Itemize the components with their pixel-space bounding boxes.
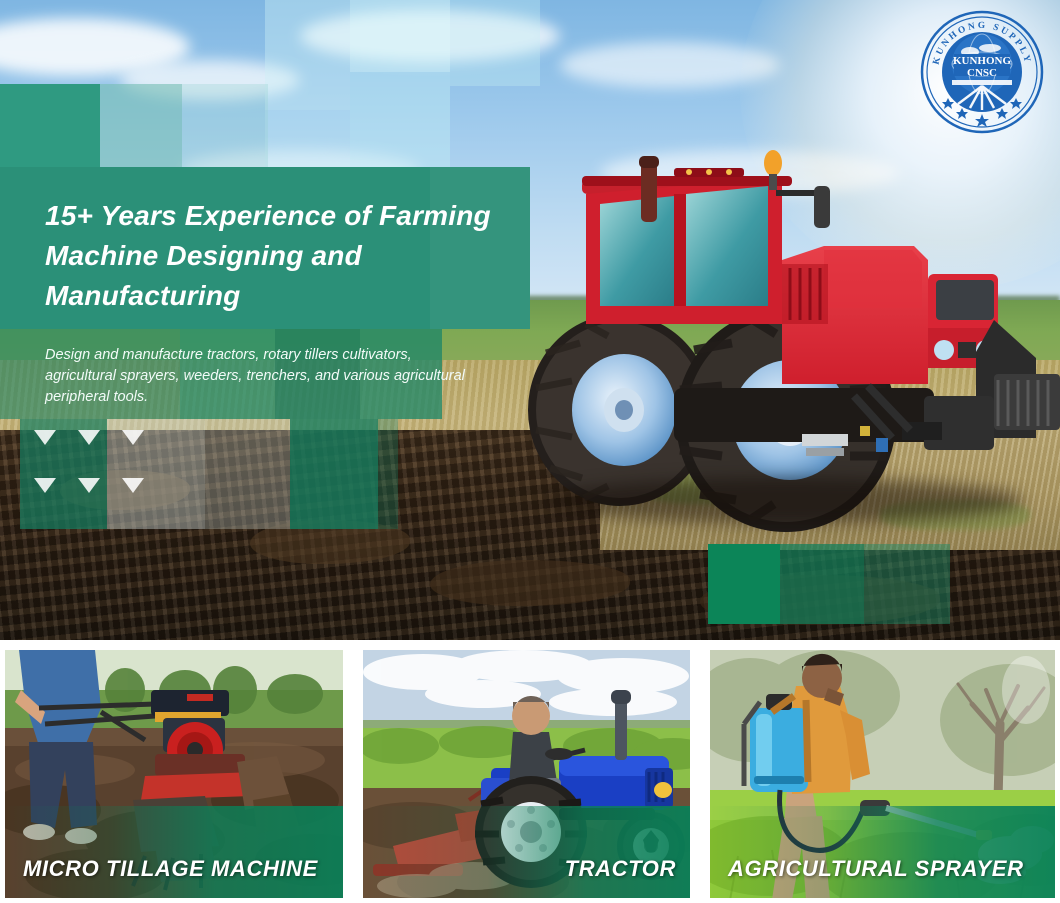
- card-label-band: [710, 806, 1055, 898]
- hero-tractor-illustration: [524, 138, 1060, 538]
- decor-green-block: [708, 544, 780, 624]
- card-label: TRACTOR: [377, 856, 676, 882]
- card-label: MICRO TILLAGE MACHINE: [23, 856, 318, 882]
- decor-green-block: [290, 419, 378, 529]
- decor-green-block: [864, 544, 950, 624]
- card-label-band: [363, 806, 690, 898]
- chevron-down-icon: [78, 430, 100, 445]
- chevron-down-icon: [34, 430, 56, 445]
- logo-line1: KUNHONG: [953, 55, 1012, 67]
- product-card[interactable]: TRACTOR: [358, 645, 695, 903]
- decor-green-block: [780, 544, 864, 624]
- tractor-hood: [782, 246, 998, 384]
- decor-tile: [450, 0, 540, 86]
- decor-green-block: [0, 84, 100, 168]
- decor-green-block: [205, 419, 290, 529]
- chevron-down-icon: [122, 430, 144, 445]
- hero-banner: 15+ Years Experience of Farming Machine …: [0, 0, 1060, 640]
- company-logo: KUNHONG CNSC CHINA KUNHONG SUPPLY CHAIN: [918, 8, 1046, 136]
- decor-tile: [350, 72, 450, 170]
- decor-green-block: [100, 84, 182, 168]
- decor-green-block: [182, 84, 268, 168]
- page-title: 15+ Years Experience of Farming Machine …: [45, 196, 515, 316]
- tractor-shadow: [544, 478, 1024, 524]
- chevron-down-icon: [34, 478, 56, 493]
- card-label-band: [5, 806, 343, 898]
- product-card[interactable]: AGRICULTURAL SPRAYER: [705, 645, 1060, 903]
- decor-green-block: [378, 419, 398, 529]
- logo-line2: CNSC: [967, 67, 997, 79]
- product-card[interactable]: MICRO TILLAGE MACHINE: [0, 645, 348, 903]
- product-card-row: MICRO TILLAGE MACHINE: [0, 645, 1060, 903]
- hero-subcopy: Design and manufacture tractors, rotary …: [45, 345, 465, 408]
- chevron-down-icon: [78, 478, 100, 493]
- decor-tile: [265, 110, 350, 170]
- chevron-down-icon: [122, 478, 144, 493]
- decor-tile: [265, 0, 350, 110]
- decor-tile: [350, 0, 450, 72]
- decor-arrow-grid: [34, 430, 144, 512]
- card-label: AGRICULTURAL SPRAYER: [728, 856, 1024, 882]
